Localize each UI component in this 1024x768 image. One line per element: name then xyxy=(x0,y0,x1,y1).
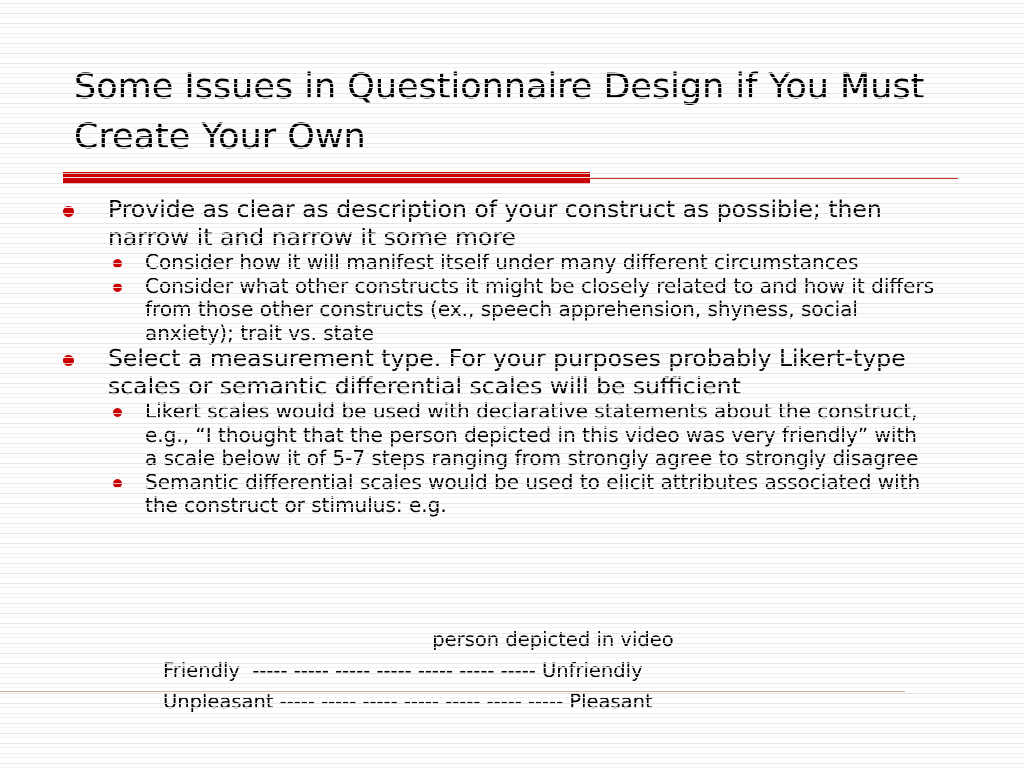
bullet-marker-icon xyxy=(63,206,74,217)
bullet-marker-icon xyxy=(113,259,122,268)
bullet-marker-icon xyxy=(113,408,122,417)
scale-caption: person depicted in video xyxy=(158,624,948,655)
bullet-item: Semantic differential scales would be us… xyxy=(63,471,973,518)
bullet-text: Provide as clear as description of your … xyxy=(108,196,953,251)
bullet-marker-icon xyxy=(63,355,74,366)
bullet-marker-icon xyxy=(113,283,122,292)
bullet-item: Consider how it will manifest itself und… xyxy=(63,251,973,275)
scale-row: Friendly ----- ----- ----- ----- ----- -… xyxy=(163,655,973,686)
bullet-text: Semantic differential scales would be us… xyxy=(145,471,935,518)
bullet-item: Likert scales would be used with declara… xyxy=(63,400,973,471)
bullet-item: Select a measurement type. For your purp… xyxy=(63,345,973,400)
bullet-item: Provide as clear as description of your … xyxy=(63,196,973,251)
page-title: Some Issues in Questionnaire Design if Y… xyxy=(74,62,964,162)
slide-canvas: Some Issues in Questionnaire Design if Y… xyxy=(0,0,1024,768)
bullet-text: Likert scales would be used with declara… xyxy=(145,400,935,471)
bullet-marker-icon xyxy=(113,479,122,488)
bottom-rule xyxy=(0,691,905,692)
bullet-item: Consider what other constructs it might … xyxy=(63,275,973,346)
slide-body: Provide as clear as description of your … xyxy=(63,196,973,518)
title-divider xyxy=(63,172,958,184)
divider-thin-line xyxy=(590,177,958,179)
divider-thick-bar xyxy=(63,172,590,184)
slide-title-block: Some Issues in Questionnaire Design if Y… xyxy=(74,62,964,162)
bullet-text: Consider how it will manifest itself und… xyxy=(145,251,935,275)
bullet-text: Consider what other constructs it might … xyxy=(145,275,935,346)
semantic-differential-example: person depicted in video Friendly ----- … xyxy=(63,624,973,717)
bullet-text: Select a measurement type. For your purp… xyxy=(108,345,953,400)
